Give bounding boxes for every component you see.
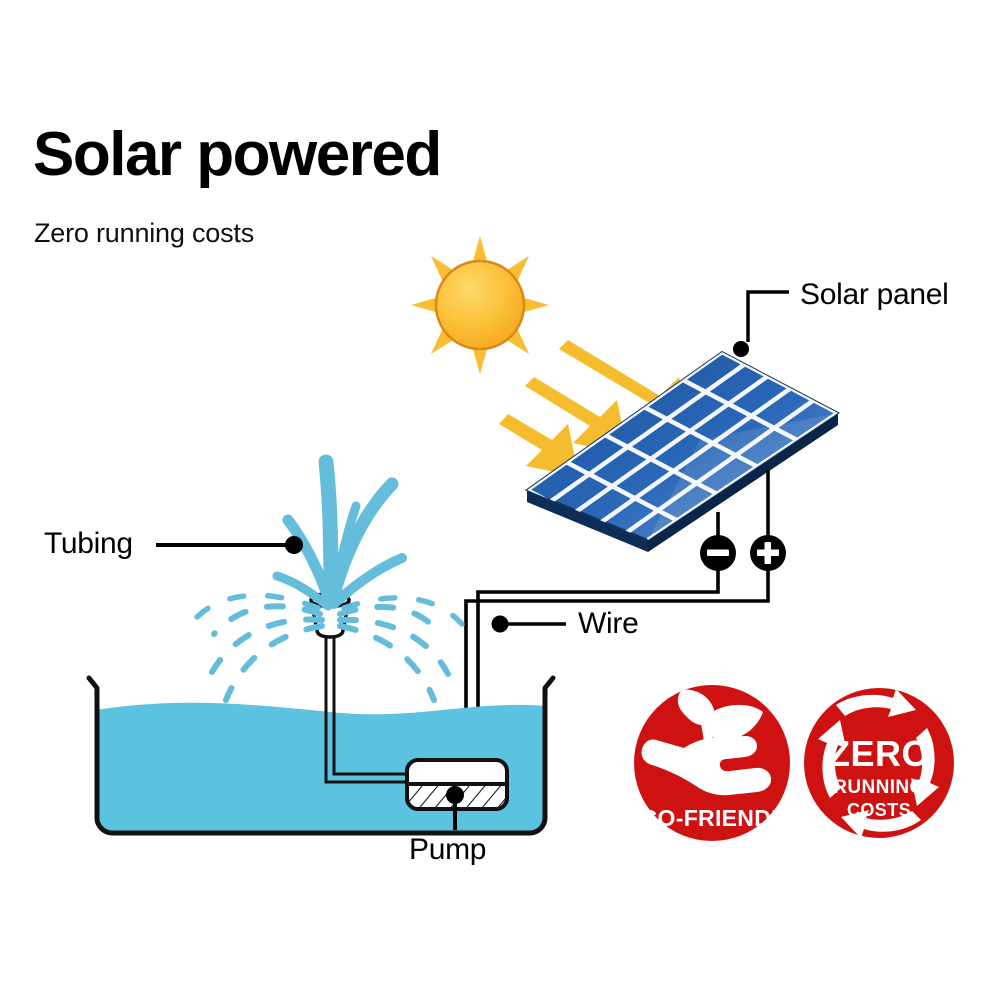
- callout-leader-solar-panel: [748, 292, 789, 342]
- callout-label-tubing: Tubing: [44, 527, 133, 561]
- badge-zero-line1: ZERO: [828, 733, 930, 774]
- badge-eco-friendly[interactable]: ECO-FRIENDLY: [625, 685, 799, 841]
- callout-dot-wire: [492, 616, 509, 633]
- badge-zero-running-costs[interactable]: ZERO RUNNING COSTS: [804, 688, 954, 838]
- terminal-positive[interactable]: [750, 535, 786, 571]
- fountain-jets: [277, 462, 402, 606]
- callout-label-solar-panel: Solar panel: [800, 278, 948, 312]
- diagram-illustration: ECO-FRIENDLY ZERO RUNNING COSTS: [0, 0, 1000, 1000]
- callout-label-pump: Pump: [409, 833, 486, 867]
- callout-dot-solar-panel: [733, 341, 749, 357]
- badge-zero-line3: COSTS: [847, 800, 911, 820]
- infographic-canvas: Solar powered Zero running costs: [0, 0, 1000, 1000]
- badge-eco-label: ECO-FRIENDLY: [625, 805, 799, 831]
- terminal-negative[interactable]: [700, 535, 736, 571]
- badge-zero-line2: RUNNING: [833, 777, 924, 798]
- callout-dot-pump: [446, 786, 464, 804]
- sun-icon: [411, 236, 549, 374]
- callout-dot-tubing: [285, 536, 303, 554]
- callout-label-wire: Wire: [578, 607, 638, 641]
